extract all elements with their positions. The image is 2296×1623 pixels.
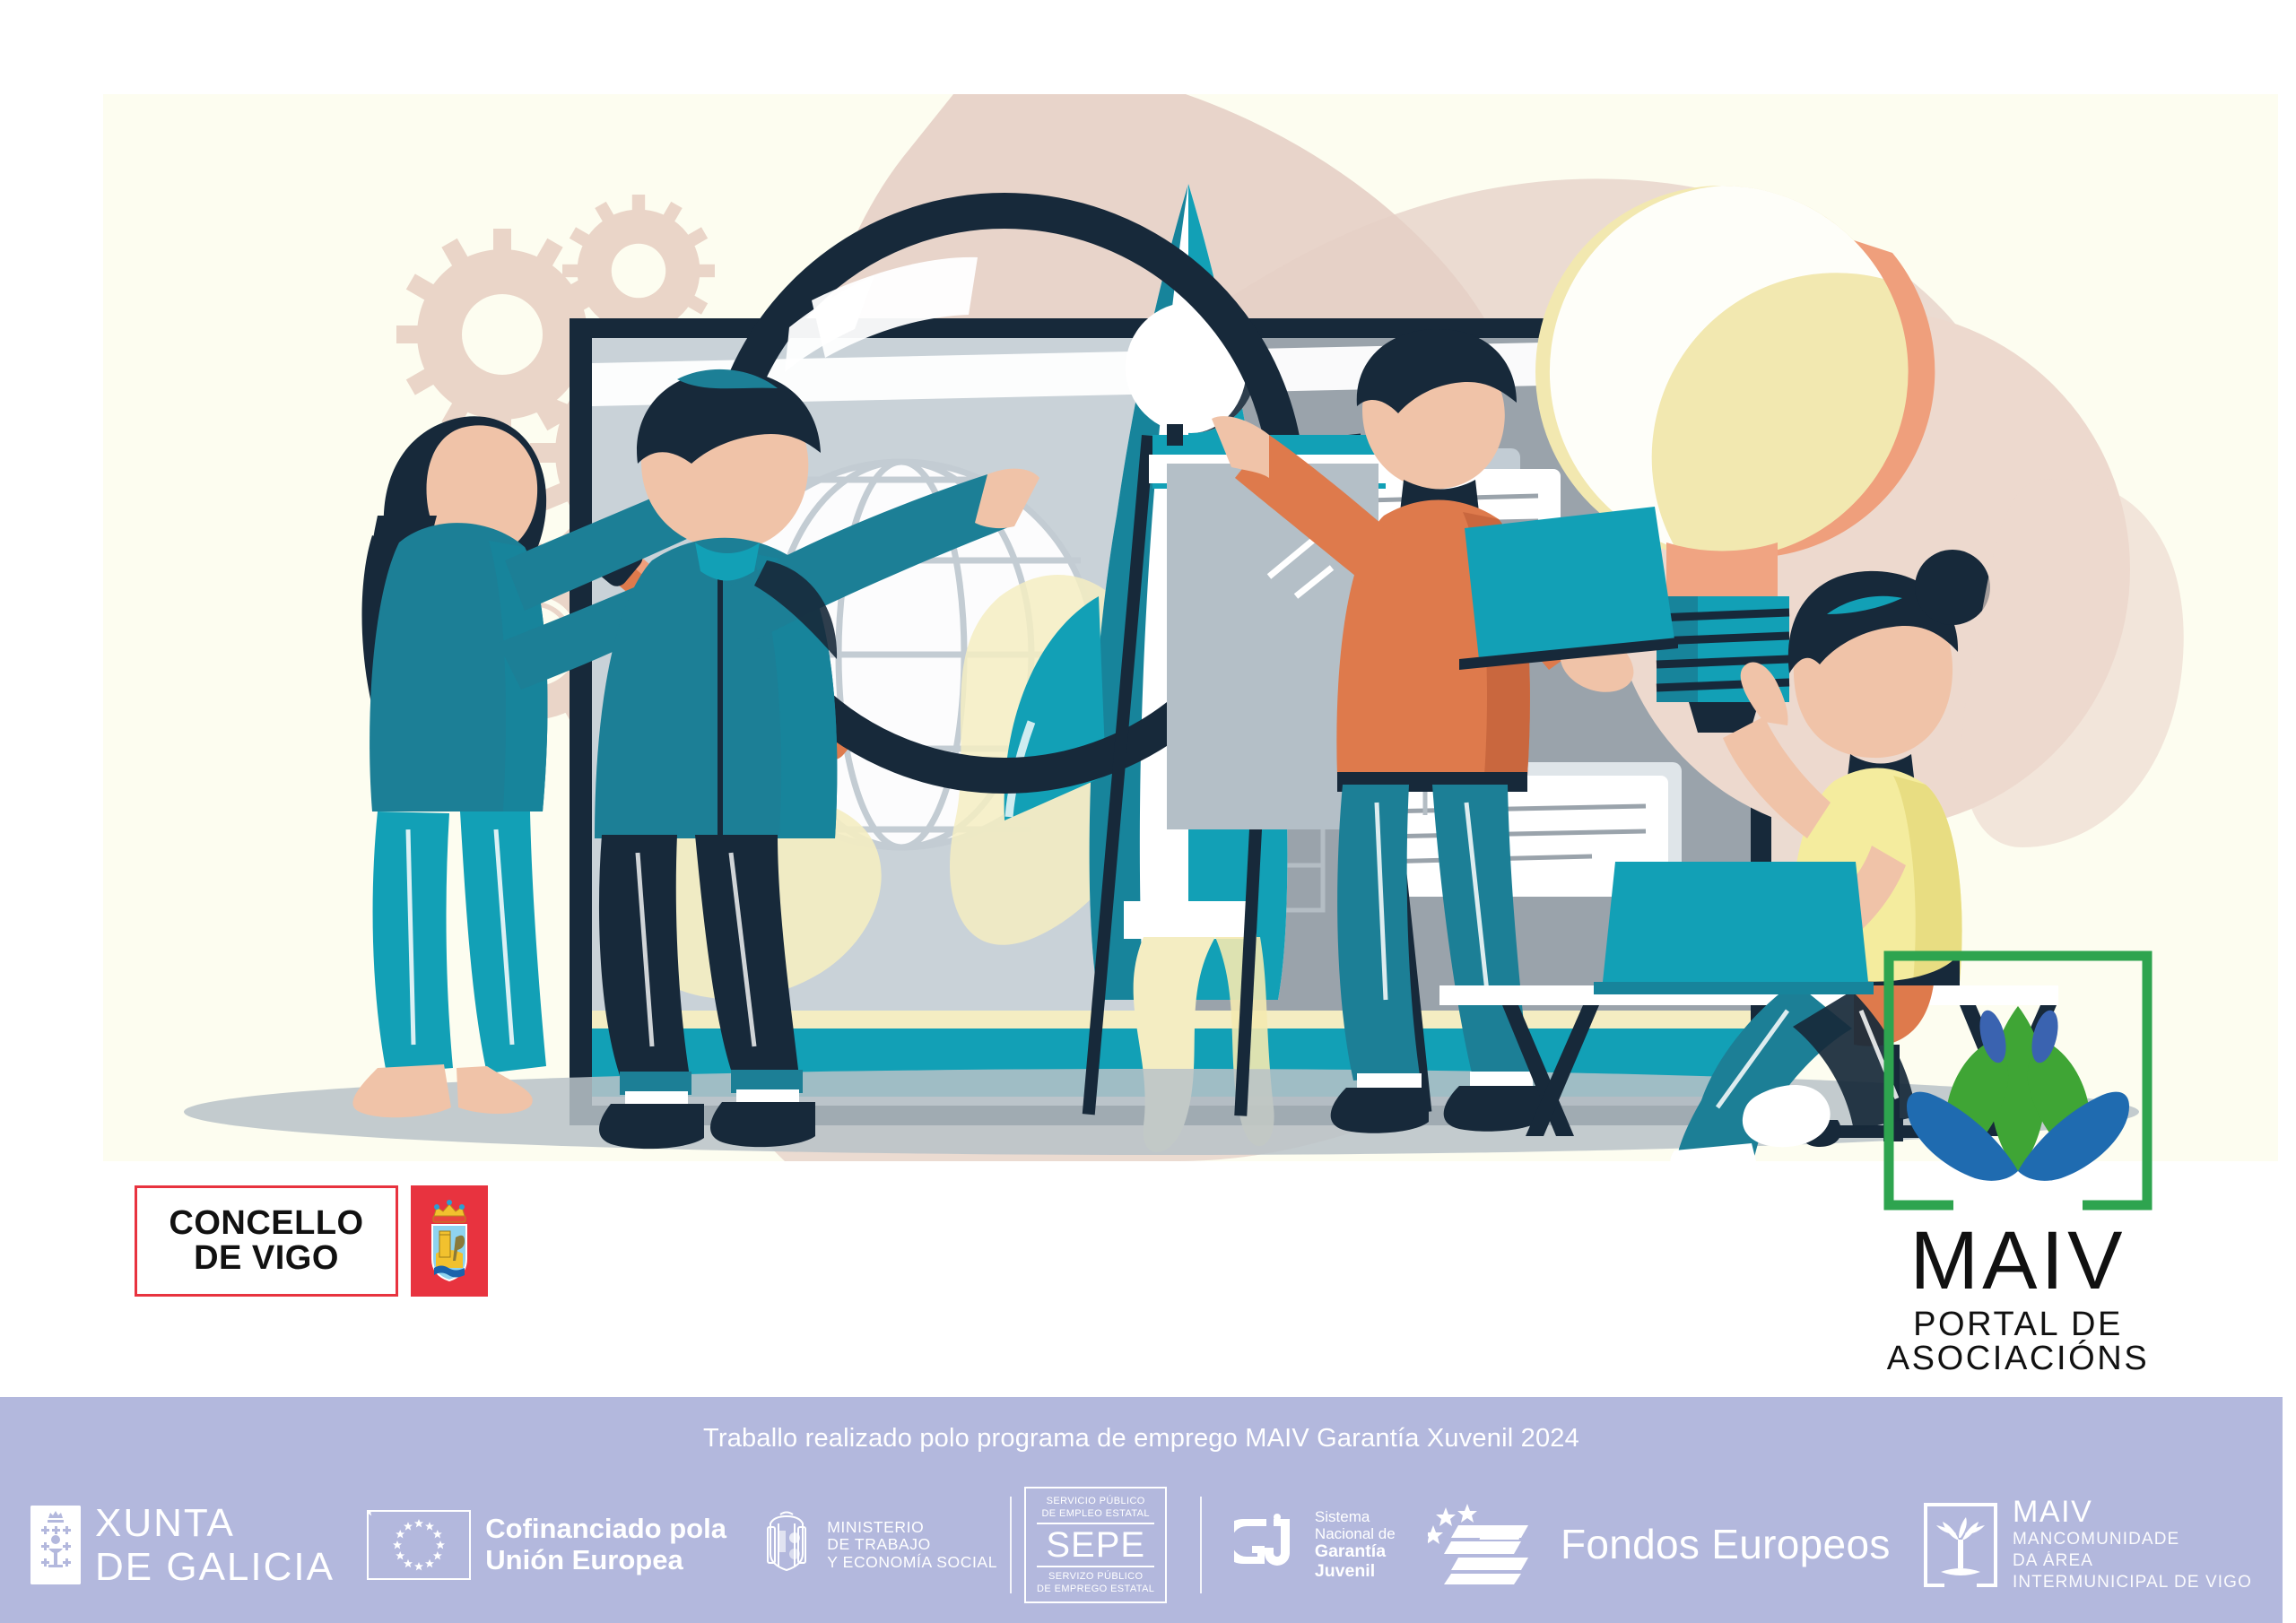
hair-bun — [1915, 550, 1990, 625]
sepe-logo: SERVICIO PÚBLICO DE EMPLEO ESTATAL SEPE … — [1024, 1487, 1167, 1603]
sepe-bottom1: SERVIZO PÚBLICO — [1037, 1570, 1154, 1583]
footer-logo-strip: XUNTA DE GALICIA — [0, 1478, 2283, 1612]
fondos-europeos-mark-icon — [1428, 1502, 1546, 1589]
sepe-wordmark: SEPE — [1037, 1527, 1154, 1563]
vigo-shield-svg — [422, 1198, 477, 1284]
page-root: CONCELLO DE VIGO — [0, 0, 2296, 1623]
gj-line4: Juvenil — [1315, 1561, 1375, 1581]
gj-line3: Garantía — [1315, 1541, 1386, 1561]
footer-logo-maiv-mancomunidade: MAIV MANCOMUNIDADE DA ÁREA INTERMUNICIPA… — [1923, 1497, 2252, 1593]
footer-caption: Traballo realizado polo programa de empr… — [0, 1424, 2283, 1454]
tablet — [1465, 507, 1674, 659]
eu-flag-icon — [367, 1510, 471, 1580]
footer-logo-fondos-europeos: Fondos Europeos — [1428, 1502, 1891, 1589]
footer-logo-union-europea: Cofinanciado pola Unión Europea — [367, 1510, 726, 1580]
eu-line2: Unión Europea — [485, 1545, 726, 1576]
xunta-line2: DE GALICIA — [95, 1545, 335, 1589]
gj-line1: Sistema — [1315, 1508, 1396, 1525]
fondos-europeos-label: Fondos Europeos — [1561, 1522, 1891, 1568]
xunta-emblem-icon — [30, 1506, 81, 1584]
maiv-f-line4: INTERMUNICIPAL DE VIGO — [2013, 1572, 2252, 1593]
gj-line2: Nacional de — [1315, 1525, 1396, 1542]
maiv-f-line2: MANCOMUNIDADE — [2013, 1529, 2252, 1550]
maiv-tagline: PORTAL DE ASOCIACIÓNS — [1803, 1307, 2233, 1376]
footer-banner: Traballo realizado polo programa de empr… — [0, 1397, 2283, 1623]
maiv-portal-logo: MAIV PORTAL DE ASOCIACIÓNS — [1803, 950, 2233, 1376]
maiv-leaf-mark-icon — [1883, 950, 2152, 1211]
sepe-rule-bottom — [1037, 1566, 1154, 1567]
sepe-top2: DE EMPLEO ESTATAL — [1037, 1507, 1154, 1520]
footer-logo-xunta: XUNTA DE GALICIA — [30, 1501, 335, 1590]
shoe — [599, 1104, 704, 1149]
footer-logo-garantia-juvenil: Sistema Nacional de Garantía Juvenil — [1234, 1508, 1396, 1582]
maiv-mark-svg — [1883, 950, 2152, 1211]
maiv-wordmark: MAIV — [1803, 1219, 2233, 1302]
footer-divider — [1010, 1497, 1012, 1593]
xunta-line1: XUNTA — [95, 1501, 335, 1545]
shoe — [1331, 1088, 1429, 1133]
concello-line1: CONCELLO — [169, 1206, 363, 1241]
sepe-bottom2: DE EMPREGO ESTATAL — [1037, 1583, 1154, 1595]
maiv-tree-mark-icon — [1923, 1502, 1998, 1588]
ministerio-line3: Y ECONOMÍA SOCIAL — [827, 1554, 997, 1572]
sepe-rule-top — [1037, 1523, 1154, 1524]
vigo-coat-of-arms-icon — [411, 1185, 488, 1297]
garantia-juvenil-mark-icon — [1234, 1514, 1300, 1577]
ministerio-line2: DE TRABAJO — [827, 1536, 997, 1554]
concello-line2: DE VIGO — [194, 1241, 339, 1276]
leaf-cluster-icon — [1907, 1006, 2129, 1181]
spain-coat-of-arms-icon — [759, 1507, 814, 1584]
ministerio-line1: MINISTERIO — [827, 1519, 997, 1537]
concello-de-vigo-logo: CONCELLO DE VIGO — [135, 1185, 448, 1297]
concello-text-box: CONCELLO DE VIGO — [135, 1185, 398, 1297]
footer-divider-2 — [1200, 1497, 1202, 1593]
footer-logo-ministerio-sepe: MINISTERIO DE TRABAJO Y ECONOMÍA SOCIAL … — [759, 1487, 1167, 1603]
sepe-top1: SERVICIO PÚBLICO — [1037, 1495, 1154, 1507]
eu-line1: Cofinanciado pola — [485, 1514, 726, 1545]
maiv-f-line3: DA ÁREA — [2013, 1550, 2252, 1572]
maiv-f-line1: MAIV — [2013, 1497, 2252, 1529]
